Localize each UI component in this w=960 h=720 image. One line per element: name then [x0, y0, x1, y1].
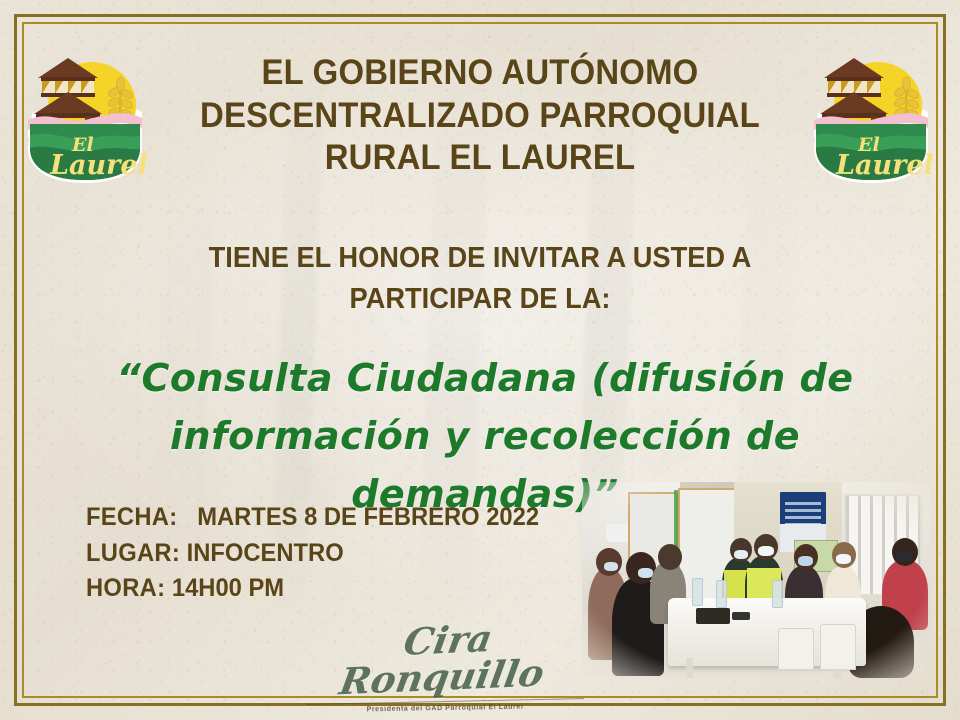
- photo-mask-4: [798, 556, 813, 566]
- signature-block: Cira Ronquillo Presidenta del GAD Parroq…: [300, 622, 590, 712]
- detail-label-fecha: FECHA:: [86, 503, 177, 531]
- photo-mask-6: [896, 552, 912, 562]
- detail-label-hora: HORA:: [86, 574, 165, 602]
- detail-value-hora: 14H00 PM: [172, 574, 284, 602]
- org-title-line-2: DESCENTRALIZADO PARROQUIAL: [170, 95, 790, 138]
- organization-title: EL GOBIERNO AUTÓNOMO DESCENTRALIZADO PAR…: [170, 52, 790, 180]
- org-title-line-1: EL GOBIERNO AUTÓNOMO: [170, 52, 790, 95]
- photo-chair-2: [820, 624, 856, 670]
- invitation-line-1: TIENE EL HONOR DE INVITAR A USTED A: [142, 238, 819, 279]
- photo-bottle-3: [772, 580, 783, 608]
- detail-row-lugar: LUGAR: INFOCENTRO: [86, 536, 539, 572]
- detail-value-lugar: INFOCENTRO: [187, 539, 344, 567]
- detail-value-fecha: MARTES 8 DE FEBRERO 2022: [197, 503, 539, 531]
- photo-head-3: [658, 544, 682, 570]
- signature-name: Cira Ronquillo: [293, 616, 598, 703]
- photo-chair-1: [778, 628, 814, 670]
- invitation-text: TIENE EL HONOR DE INVITAR A USTED A PART…: [142, 238, 819, 320]
- photo-notebook: [696, 608, 730, 624]
- logo-el-laurel-right: El Laurel: [808, 28, 934, 186]
- photo-table-leg-1: [686, 658, 693, 678]
- photo-bottle-1: [692, 578, 703, 606]
- signature-role: Presidenta del GAD Parroquial El Laurel: [300, 702, 590, 714]
- logo-wordmark-line2: Laurel: [49, 150, 148, 181]
- detail-row-fecha: FECHA: MARTES 8 DE FEBRERO 2022: [86, 500, 539, 536]
- invitation-line-2: PARTICIPAR DE LA:: [142, 279, 819, 320]
- logo-wordmark-line2: Laurel: [835, 150, 934, 181]
- detail-label-lugar: LUGAR:: [86, 539, 180, 567]
- photo-mask-1: [604, 562, 618, 571]
- detail-row-hora: HORA: 14H00 PM: [86, 571, 539, 607]
- event-details: FECHA: MARTES 8 DE FEBRERO 2022 LUGAR: I…: [86, 500, 539, 607]
- photo-mask-5: [836, 554, 851, 564]
- logo-el-laurel-left: El Laurel: [22, 28, 148, 186]
- invitation-poster: El Laurel: [0, 0, 960, 720]
- photo-officer-1-mask: [734, 550, 748, 559]
- meeting-photo: [582, 482, 930, 678]
- photo-phone: [732, 612, 750, 620]
- photo-officer-2-mask: [758, 546, 774, 556]
- org-title-line-3: RURAL EL LAUREL: [170, 137, 790, 180]
- photo-bottle-2: [716, 580, 727, 608]
